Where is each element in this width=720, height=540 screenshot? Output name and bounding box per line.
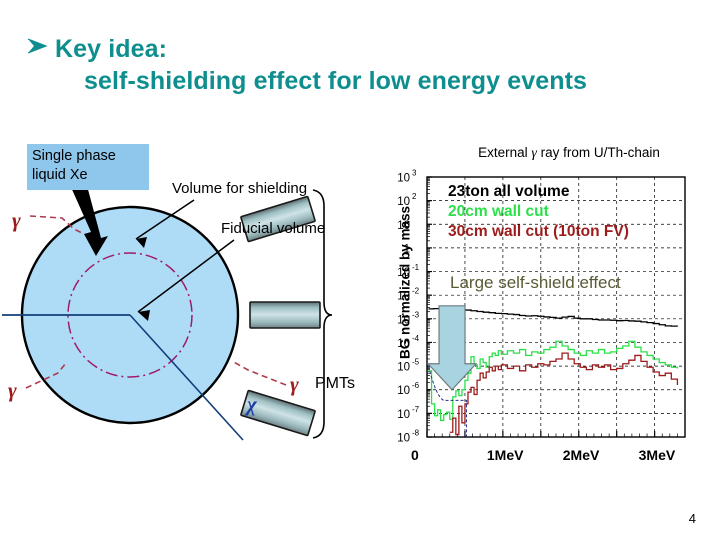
legend-entry-20cm-cut: 20cm wall cut <box>448 203 549 221</box>
svg-text:-5: -5 <box>412 358 420 367</box>
svg-text:10: 10 <box>397 385 410 397</box>
x-tick-label: 1MeV <box>487 447 524 463</box>
pmt-tube <box>250 302 320 328</box>
svg-text:10: 10 <box>397 338 410 350</box>
legend-entry-all-volume: 23ton all volume <box>448 183 569 201</box>
gamma-symbol-top-left: γ <box>12 208 21 233</box>
svg-text:-2: -2 <box>412 287 420 296</box>
title-line-1: Key idea: <box>0 32 720 65</box>
svg-text:10: 10 <box>397 362 410 374</box>
detector-diagram: Single phase liquid Xe Volume for shield… <box>0 130 400 460</box>
svg-text:-1: -1 <box>412 263 420 272</box>
svg-text:10: 10 <box>397 433 410 445</box>
chart-annotation-self-shield: Large self-shield effect <box>450 273 621 293</box>
svg-text:10: 10 <box>397 267 410 279</box>
callout-line-1: Single phase <box>32 147 144 166</box>
svg-text:10: 10 <box>397 409 410 421</box>
svg-text:1: 1 <box>404 243 410 255</box>
gamma-symbol-bottom-left: γ <box>8 378 17 403</box>
y-tick-label: 10-2 <box>397 287 419 303</box>
x-tick-label: 0 <box>411 447 419 463</box>
title-line-2: self-shielding effect for low energy eve… <box>0 65 720 97</box>
svg-text:10: 10 <box>397 314 410 326</box>
legend-entry-30cm-cut: 30cm wall cut (10ton FV) <box>448 223 629 241</box>
y-tick-label: 10 <box>397 220 410 232</box>
y-tick-label: 103 <box>397 169 417 185</box>
page-title: Key idea: self-shielding effect for low … <box>0 32 720 97</box>
y-tick-label: 10-7 <box>397 405 419 421</box>
svg-text:-6: -6 <box>412 381 420 390</box>
x-tick-label: 2MeV <box>563 447 600 463</box>
chi-symbol: χ <box>247 392 257 417</box>
background-spectrum-chart: External γ ray from U/Th-chain BG normal… <box>378 145 720 490</box>
callout-line-2: liquid Xe <box>32 166 144 185</box>
label-fiducial-volume: Fiducial volume <box>221 220 325 237</box>
svg-text:10: 10 <box>397 173 410 185</box>
y-tick-label: 10-5 <box>397 358 419 374</box>
gamma-track-right <box>232 361 286 385</box>
svg-text:-7: -7 <box>412 405 420 414</box>
svg-text:-8: -8 <box>412 429 420 438</box>
arrowhead-bullet-icon <box>26 32 48 64</box>
y-tick-label: 10-8 <box>397 429 419 445</box>
svg-text:2: 2 <box>412 192 417 201</box>
x-tick-label: 3MeV <box>639 447 676 463</box>
y-tick-label: 10-1 <box>397 263 419 279</box>
y-tick-label: 10-4 <box>397 334 419 350</box>
gamma-symbol-right: γ <box>290 372 299 397</box>
y-tick-label: 10-6 <box>397 381 419 397</box>
page-number: 4 <box>689 511 696 526</box>
label-pmts: PMTs <box>315 375 355 393</box>
svg-text:-4: -4 <box>412 334 420 343</box>
svg-text:10: 10 <box>397 220 410 232</box>
title-text-1: Key idea: <box>55 35 167 63</box>
svg-text:-3: -3 <box>412 310 420 319</box>
y-tick-label: 1 <box>404 243 410 255</box>
y-tick-label: 102 <box>397 192 417 208</box>
label-volume-for-shielding: Volume for shielding <box>172 180 307 197</box>
svg-text:10: 10 <box>397 196 410 208</box>
svg-text:3: 3 <box>412 169 417 178</box>
svg-text:10: 10 <box>397 291 410 303</box>
y-tick-label: 10-3 <box>397 310 419 326</box>
single-phase-callout: Single phase liquid Xe <box>27 144 149 190</box>
